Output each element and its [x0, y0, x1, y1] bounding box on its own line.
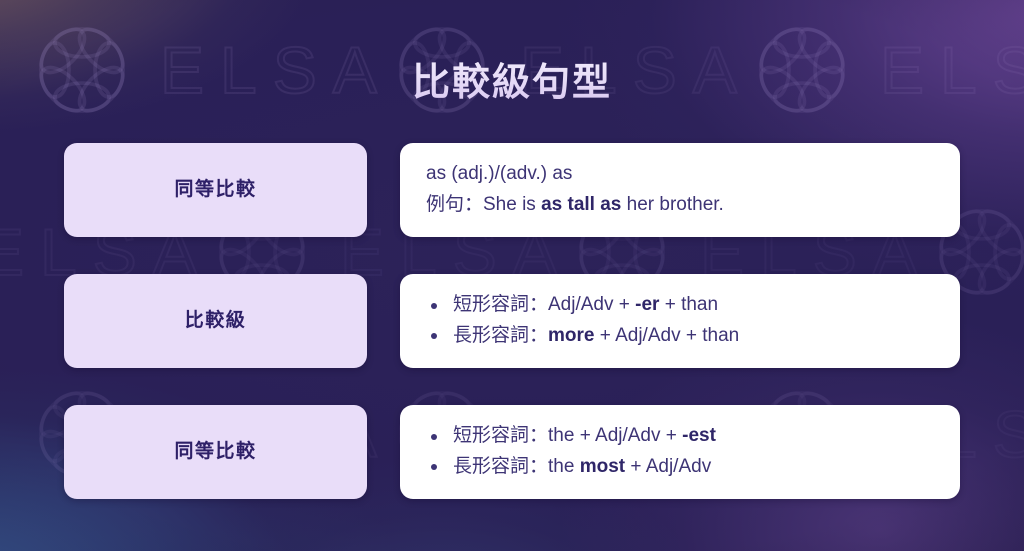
rule-body-card: 短形容詞：the + Adj/Adv + -est長形容詞：the most +… — [400, 405, 960, 499]
rule-text: her brother. — [621, 194, 723, 215]
slide-content: 比較級句型 同等比較as (adj.)/(adv.) as例句：She is a… — [0, 0, 1024, 551]
rule-text: 例句：She is — [426, 194, 541, 215]
rule-bullet-list: 短形容詞：Adj/Adv + -er + than長形容詞：more + Adj… — [426, 290, 934, 352]
category-label-card: 同等比較 — [64, 143, 367, 237]
bullet-dot-icon — [431, 434, 437, 440]
bullet-dot-icon — [431, 303, 437, 309]
rule-bullet-list: 短形容詞：the + Adj/Adv + -est長形容詞：the most +… — [426, 421, 934, 483]
rule-text: 長形容詞：the — [453, 456, 580, 477]
comparison-rows: 同等比較as (adj.)/(adv.) as例句：She is as tall… — [64, 143, 960, 499]
bullet-dot-icon — [431, 333, 437, 339]
comparison-row: 比較級短形容詞：Adj/Adv + -er + than長形容詞：more + … — [64, 274, 960, 368]
rule-text: 長形容詞： — [453, 325, 548, 346]
category-label-card: 同等比較 — [64, 405, 367, 499]
category-label-text: 同等比較 — [174, 179, 256, 202]
rule-body-card: 短形容詞：Adj/Adv + -er + than長形容詞：more + Adj… — [400, 274, 960, 368]
rule-text: + Adj/Adv + than — [594, 325, 739, 346]
slide-canvas: ELSA ELSA — [0, 0, 1024, 551]
category-label-text: 比較級 — [185, 310, 247, 333]
rule-line: 例句：She is as tall as her brother. — [426, 190, 934, 221]
rule-body-card: as (adj.)/(adv.) as例句：She is as tall as … — [400, 143, 960, 237]
rule-bullet-item: 短形容詞：Adj/Adv + -er + than — [426, 290, 934, 321]
rule-text: + than — [659, 294, 718, 315]
page-title: 比較級句型 — [0, 62, 1024, 106]
bullet-dot-icon — [431, 464, 437, 470]
rule-text: as (adj.)/(adv.) as — [426, 163, 572, 184]
rule-bullet-item: 短形容詞：the + Adj/Adv + -est — [426, 421, 934, 452]
rule-keyword: -est — [682, 425, 716, 446]
rule-keyword: as tall as — [541, 194, 621, 215]
category-label-card: 比較級 — [64, 274, 367, 368]
rule-text: 短形容詞：Adj/Adv + — [453, 294, 635, 315]
rule-keyword: most — [580, 456, 625, 477]
rule-bullet-item: 長形容詞：the most + Adj/Adv — [426, 452, 934, 483]
rule-text: + Adj/Adv — [625, 456, 711, 477]
category-label-text: 同等比較 — [174, 441, 256, 464]
comparison-row: 同等比較短形容詞：the + Adj/Adv + -est長形容詞：the mo… — [64, 405, 960, 499]
comparison-row: 同等比較as (adj.)/(adv.) as例句：She is as tall… — [64, 143, 960, 237]
rule-text: 短形容詞：the + Adj/Adv + — [453, 425, 682, 446]
rule-keyword: more — [548, 325, 594, 346]
rule-line: as (adj.)/(adv.) as — [426, 159, 934, 190]
rule-bullet-item: 長形容詞：more + Adj/Adv + than — [426, 321, 934, 352]
rule-keyword: -er — [635, 294, 659, 315]
